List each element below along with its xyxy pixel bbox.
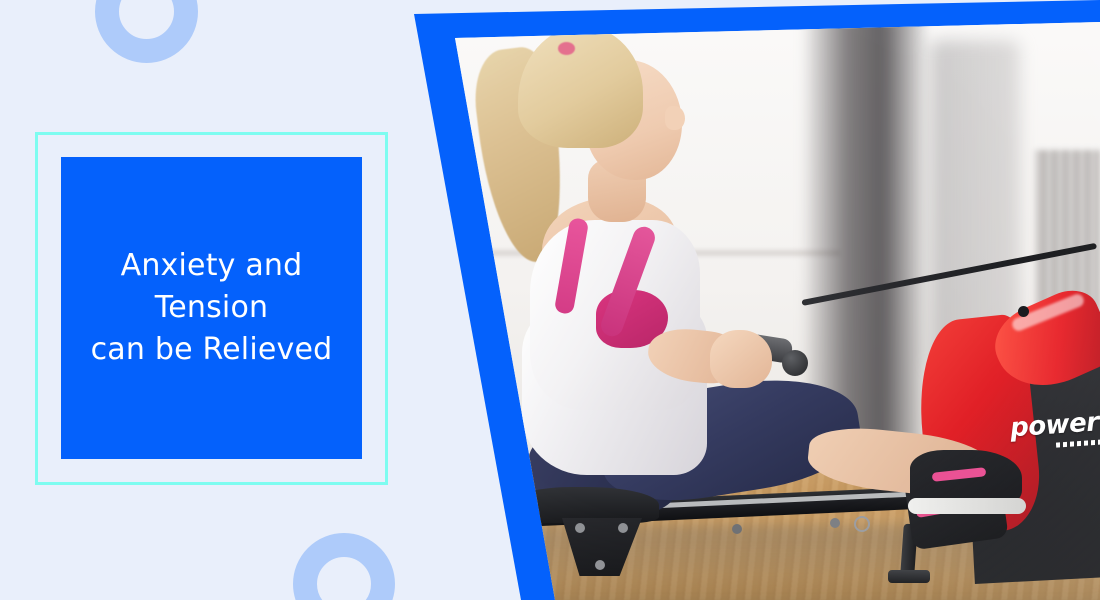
headline-card: Anxiety and Tension can be Relieved <box>61 157 362 459</box>
rower-seat <box>514 487 659 523</box>
circle-outline-top-icon <box>95 0 198 63</box>
rower-support-foot <box>888 570 930 583</box>
person-hand <box>710 330 772 388</box>
gym-scene: powertrain <box>410 0 1100 600</box>
hair-tie <box>558 42 575 55</box>
rail-bolt <box>732 524 742 534</box>
photo-blue-frame: powertrain <box>410 0 1100 600</box>
rail-ring <box>854 516 870 532</box>
bracket-bolt <box>595 560 605 570</box>
hero-photo: powertrain <box>410 0 1100 600</box>
rail-bolt <box>830 518 840 528</box>
promo-banner: Anxiety and Tension can be Relieved <box>0 0 1100 600</box>
circle-outline-bottom-icon <box>293 533 395 600</box>
person-nose <box>665 106 685 130</box>
rower-handle-cap <box>782 350 808 376</box>
page-title: Anxiety and Tension can be Relieved <box>85 245 339 371</box>
bracket-bolt <box>575 523 585 533</box>
red-arm-pivot <box>1018 306 1029 317</box>
bracket-bolt <box>618 523 628 533</box>
shoe-sole <box>908 498 1026 514</box>
